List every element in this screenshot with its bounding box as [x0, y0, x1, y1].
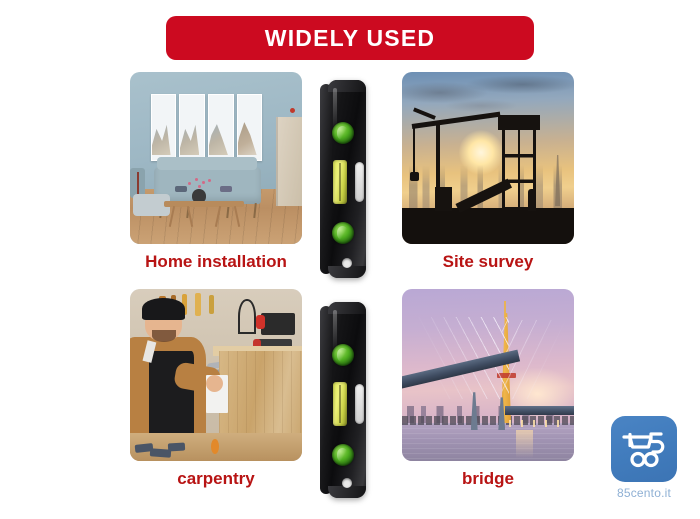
cushion: [220, 186, 232, 193]
panel-caption: Site survey: [402, 253, 574, 272]
worker-silhouette: [528, 189, 537, 211]
scissors-icon: [238, 299, 255, 333]
panel-caption: Home installation: [130, 253, 302, 272]
crane-counter-jib: [413, 107, 436, 120]
level-vial-round-top: [332, 344, 354, 366]
level-hand-slot: [355, 384, 364, 424]
panel-caption: bridge: [402, 470, 574, 489]
photo-site-survey: [402, 72, 574, 244]
panel-home-installation: Home installation: [130, 72, 302, 272]
level-vial-round-bottom: [332, 444, 354, 466]
art-panel: [237, 94, 263, 161]
site-container: [435, 187, 452, 211]
level-hand-slot: [355, 162, 364, 202]
product-level-front-view: [316, 80, 378, 278]
bench-tools: [135, 440, 204, 459]
beanie-hat: [142, 298, 185, 320]
panel-site-survey: Site survey: [402, 72, 574, 272]
level-vial-barrel: [333, 382, 347, 426]
logo-tile[interactable]: [611, 416, 677, 482]
photo-bridge: [402, 289, 574, 461]
carpenter-hand: [206, 375, 223, 392]
photo-home-installation: [130, 72, 302, 244]
bar-clamp: [261, 313, 295, 335]
level-vial-round-bottom: [332, 222, 354, 244]
art-panel: [179, 94, 205, 161]
coffee-table-legs: [168, 206, 240, 227]
level-vial-round-top: [332, 122, 354, 144]
panel-carpentry: carpentry: [130, 289, 302, 489]
panel-caption: carpentry: [130, 470, 302, 489]
wall-art-panels: [151, 94, 263, 161]
bridge-lights: [509, 420, 567, 427]
sideboard-cabinet: [276, 117, 302, 206]
level-vial-barrel: [333, 160, 347, 204]
product-level-angled-view: [316, 302, 378, 498]
crane-hook-line: [413, 128, 415, 174]
bridge-deck-right: [505, 406, 574, 415]
art-panel: [151, 94, 177, 161]
photo-carpentry: [130, 289, 302, 461]
crane-load: [410, 172, 420, 181]
foreground-ground: [402, 208, 574, 244]
art-panel: [208, 94, 234, 161]
level-hang-hole: [342, 258, 352, 268]
level-hang-hole: [342, 478, 352, 488]
water-reflection: [516, 430, 533, 458]
panel-bridge: bridge: [402, 289, 574, 489]
river-water: [402, 423, 574, 461]
widely-used-banner: WIDELY USED: [166, 16, 534, 60]
shopping-cart-85-icon: [621, 429, 667, 469]
level-side-edge: [320, 84, 332, 274]
brand-name: 85cento.it: [604, 486, 684, 500]
banner-title: WIDELY USED: [265, 25, 435, 52]
brand-logo[interactable]: 85cento.it: [604, 416, 684, 500]
level-side-edge: [320, 306, 332, 494]
